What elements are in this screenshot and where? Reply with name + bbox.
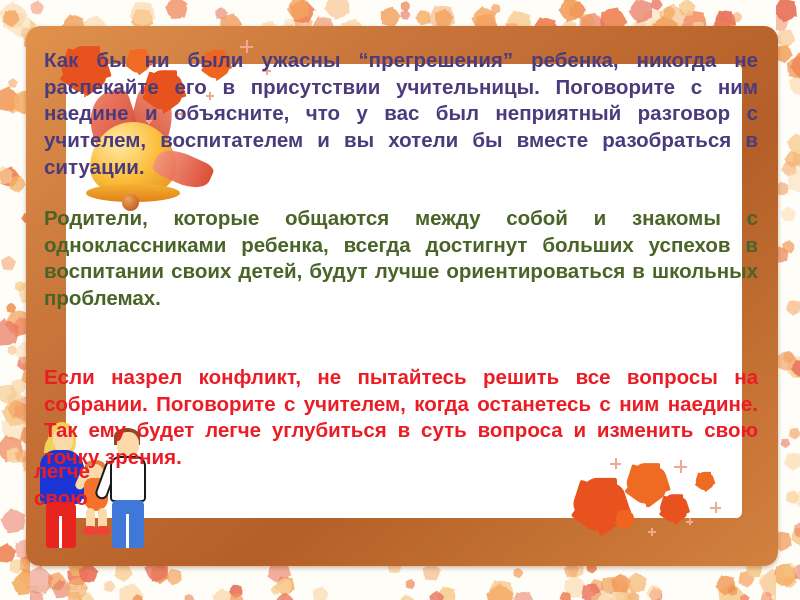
overlay-word-legche: легче <box>34 460 90 484</box>
paragraph-red-text: Если назрел конфликт, не пытайтесь решит… <box>44 365 758 472</box>
maple-leaf-icon <box>692 468 718 494</box>
maple-leaf-icon <box>612 506 638 532</box>
child-shoe <box>96 526 110 535</box>
paragraph-green-text: Родители, которые общаются между собой и… <box>44 206 758 313</box>
paragraph-green: Родители, которые общаются между собой и… <box>44 206 758 313</box>
sparkle-icon <box>710 502 721 513</box>
paragraph-red: Если назрел конфликт, не пытайтесь решит… <box>44 365 758 472</box>
watermark: http://aida.ucoz.ru <box>26 585 87 592</box>
slide-canvas: Как бы ни были ужасны “прегрешения” ребе… <box>0 0 800 600</box>
mother-leg-split <box>59 516 62 548</box>
child-shoe <box>83 526 97 535</box>
paragraph-purple-text: Как бы ни были ужасны “прегрешения” ребе… <box>44 48 758 181</box>
sparkle-icon <box>648 528 656 536</box>
overlay-word-svoyu: свою <box>34 487 88 511</box>
paragraph-purple: Как бы ни были ужасны “прегрешения” ребе… <box>44 48 758 181</box>
sparkle-icon <box>686 518 693 525</box>
presentation-slide: Как бы ни были ужасны “прегрешения” ребе… <box>0 0 800 600</box>
father-leg-split <box>126 514 129 548</box>
